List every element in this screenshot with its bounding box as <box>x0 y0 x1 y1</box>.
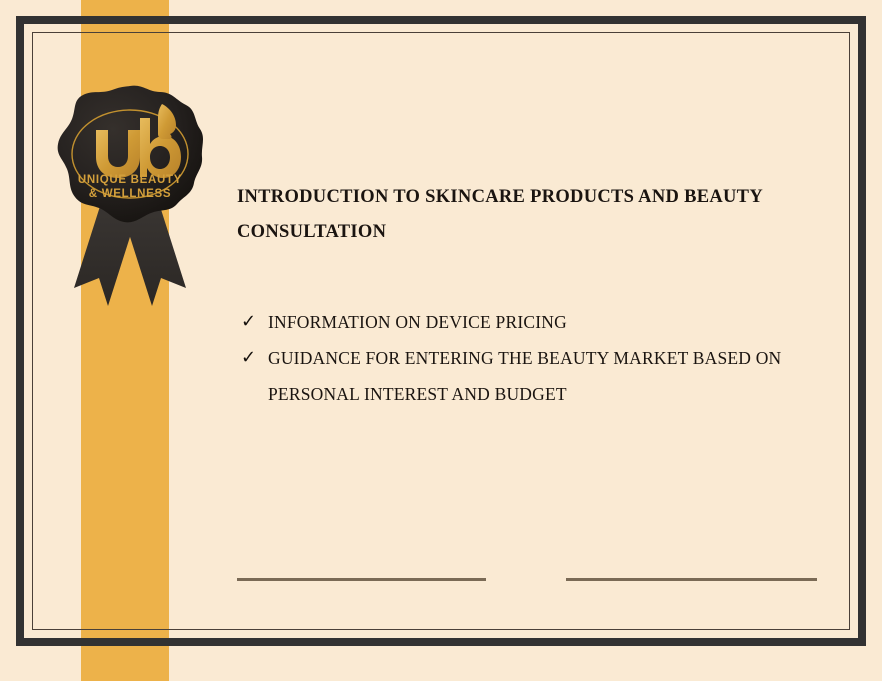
slide-content: INTRODUCTION TO SKINCARE PRODUCTS AND BE… <box>237 180 817 412</box>
list-item: ✓ INFORMATION ON DEVICE PRICING <box>237 304 788 340</box>
list-item-label: INFORMATION ON DEVICE PRICING <box>268 312 567 332</box>
slide-title: INTRODUCTION TO SKINCARE PRODUCTS AND BE… <box>237 180 797 250</box>
signature-row <box>237 578 817 581</box>
award-seal-icon: UNIQUE BEAUTY & WELLNESS <box>58 86 203 223</box>
seal-brand-line-1: UNIQUE BEAUTY <box>78 174 182 186</box>
check-icon: ✓ <box>241 340 256 376</box>
seal-brand-line-2: & WELLNESS <box>89 188 171 200</box>
check-icon: ✓ <box>241 304 256 340</box>
award-seal: UNIQUE BEAUTY & WELLNESS <box>44 78 216 328</box>
signature-line-right <box>566 578 817 581</box>
signature-line-left <box>237 578 486 581</box>
list-item: ✓ GUIDANCE FOR ENTERING THE BEAUTY MARKE… <box>237 340 788 412</box>
bullet-list: ✓ INFORMATION ON DEVICE PRICING ✓ GUIDAN… <box>237 304 817 412</box>
certificate-slide: UNIQUE BEAUTY & WELLNESS INTRODUCTION TO… <box>0 0 882 681</box>
list-item-label: GUIDANCE FOR ENTERING THE BEAUTY MARKET … <box>268 348 781 404</box>
